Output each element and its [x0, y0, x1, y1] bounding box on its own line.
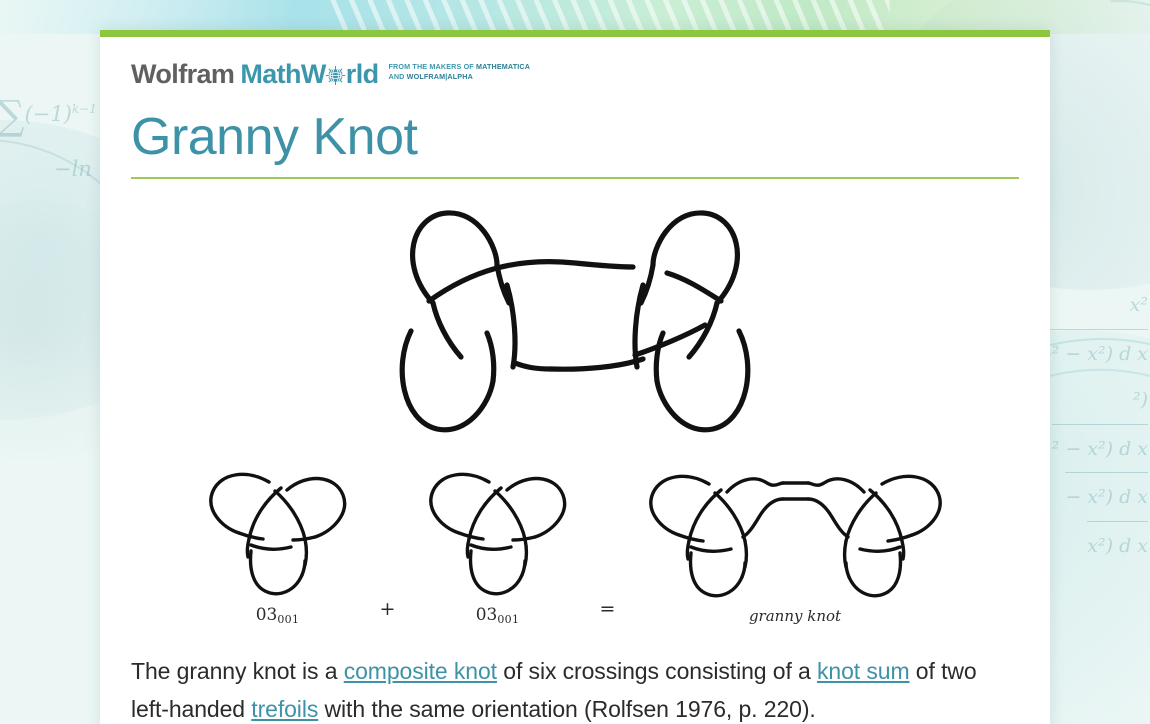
logo-world-rld: rld	[346, 59, 379, 89]
knot-summand-2-label: 03001	[476, 605, 520, 626]
page-title: Granny Knot	[131, 107, 1019, 167]
card-top-accent-bar	[100, 30, 1050, 37]
knot-summand-1: 03001	[203, 457, 353, 626]
logo-mathworld-text: MathW	[240, 59, 378, 89]
background-math-left: ∑(−1)k−1 −ln	[0, 78, 97, 190]
knot-sum-result: granny knot	[643, 459, 948, 625]
plus-operator: +	[353, 598, 423, 626]
globe-icon	[326, 61, 345, 80]
granny-knot-main-diagram	[375, 195, 775, 435]
body-segment-4: with the same orientation (Rolfsen 1976,…	[318, 696, 815, 722]
logo-math-text: Math	[240, 59, 301, 89]
knot-sum-row: 03001 +	[203, 457, 948, 626]
article-body-paragraph: The granny knot is a composite knot of s…	[131, 652, 1019, 724]
logo-wolfram-text: Wolfram	[131, 59, 234, 89]
site-logo[interactable]: Wolfram MathW	[131, 59, 1019, 93]
logo-tagline: From the makers of Mathematica and Wolfr…	[389, 62, 531, 81]
link-trefoils[interactable]: trefoils	[251, 696, 318, 722]
trefoil-knot-diagram	[203, 457, 353, 597]
body-segment-2: of six crossings consisting of a	[497, 658, 817, 684]
logo-world-w: W	[301, 59, 326, 89]
link-composite-knot[interactable]: composite knot	[344, 658, 497, 684]
knot-summand-2: 03001	[423, 457, 573, 626]
content-card: Wolfram MathW	[100, 30, 1050, 724]
trefoil-knot-diagram	[423, 457, 573, 597]
link-knot-sum[interactable]: knot sum	[817, 658, 910, 684]
equals-operator: =	[573, 598, 643, 626]
granny-knot-composite-diagram	[643, 459, 948, 599]
summation-symbol: ∑	[0, 93, 25, 139]
knot-sum-result-label: granny knot	[749, 607, 841, 625]
body-segment-1: The granny knot is a	[131, 658, 344, 684]
knot-summand-1-label: 03001	[256, 605, 300, 626]
figure-area: 03001 +	[131, 195, 1019, 626]
title-divider	[131, 177, 1019, 179]
